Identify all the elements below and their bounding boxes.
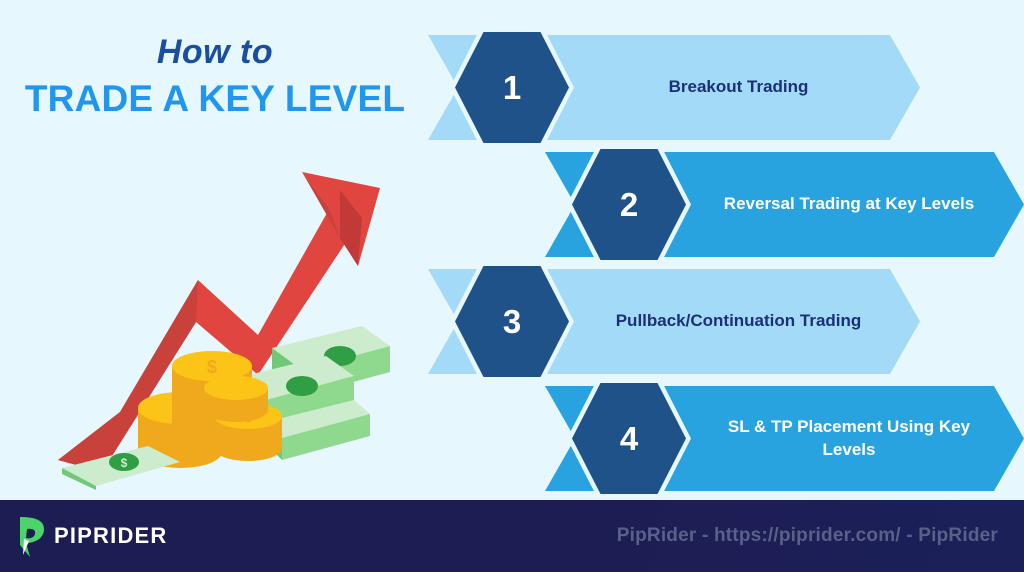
steps-list: Breakout Trading 1 Reversal Trading at K… <box>0 0 1024 500</box>
step-label-3: Pullback/Continuation Trading <box>603 269 874 374</box>
piprider-logo-icon <box>14 515 48 557</box>
step-number-2: 2 <box>620 188 638 221</box>
step-label-2: Reversal Trading at Key Levels <box>720 152 978 257</box>
step-number-4: 4 <box>620 422 638 455</box>
step-label-4: SL & TP Placement Using Key Levels <box>720 386 978 491</box>
step-item-4[interactable]: SL & TP Placement Using Key Levels 4 <box>545 386 1024 491</box>
step-number-3: 3 <box>503 305 521 338</box>
brand-name: PIPRIDER <box>54 523 168 549</box>
step-hexagon-4[interactable]: 4 <box>567 378 691 499</box>
step-item-1[interactable]: Breakout Trading 1 <box>428 35 920 140</box>
step-hexagon-2[interactable]: 2 <box>567 144 691 265</box>
footer-bar: PIPRIDER PipRider - https://piprider.com… <box>0 500 1024 572</box>
step-hexagon-3[interactable]: 3 <box>450 261 574 382</box>
footer-url-text: PipRider - https://piprider.com/ - PipRi… <box>617 525 998 547</box>
step-item-3[interactable]: Pullback/Continuation Trading 3 <box>428 269 920 374</box>
step-item-2[interactable]: Reversal Trading at Key Levels 2 <box>545 152 1024 257</box>
step-hexagon-1[interactable]: 1 <box>450 27 574 148</box>
brand-logo[interactable]: PIPRIDER <box>14 515 168 557</box>
step-label-1: Breakout Trading <box>603 35 874 140</box>
step-number-1: 1 <box>503 71 521 104</box>
